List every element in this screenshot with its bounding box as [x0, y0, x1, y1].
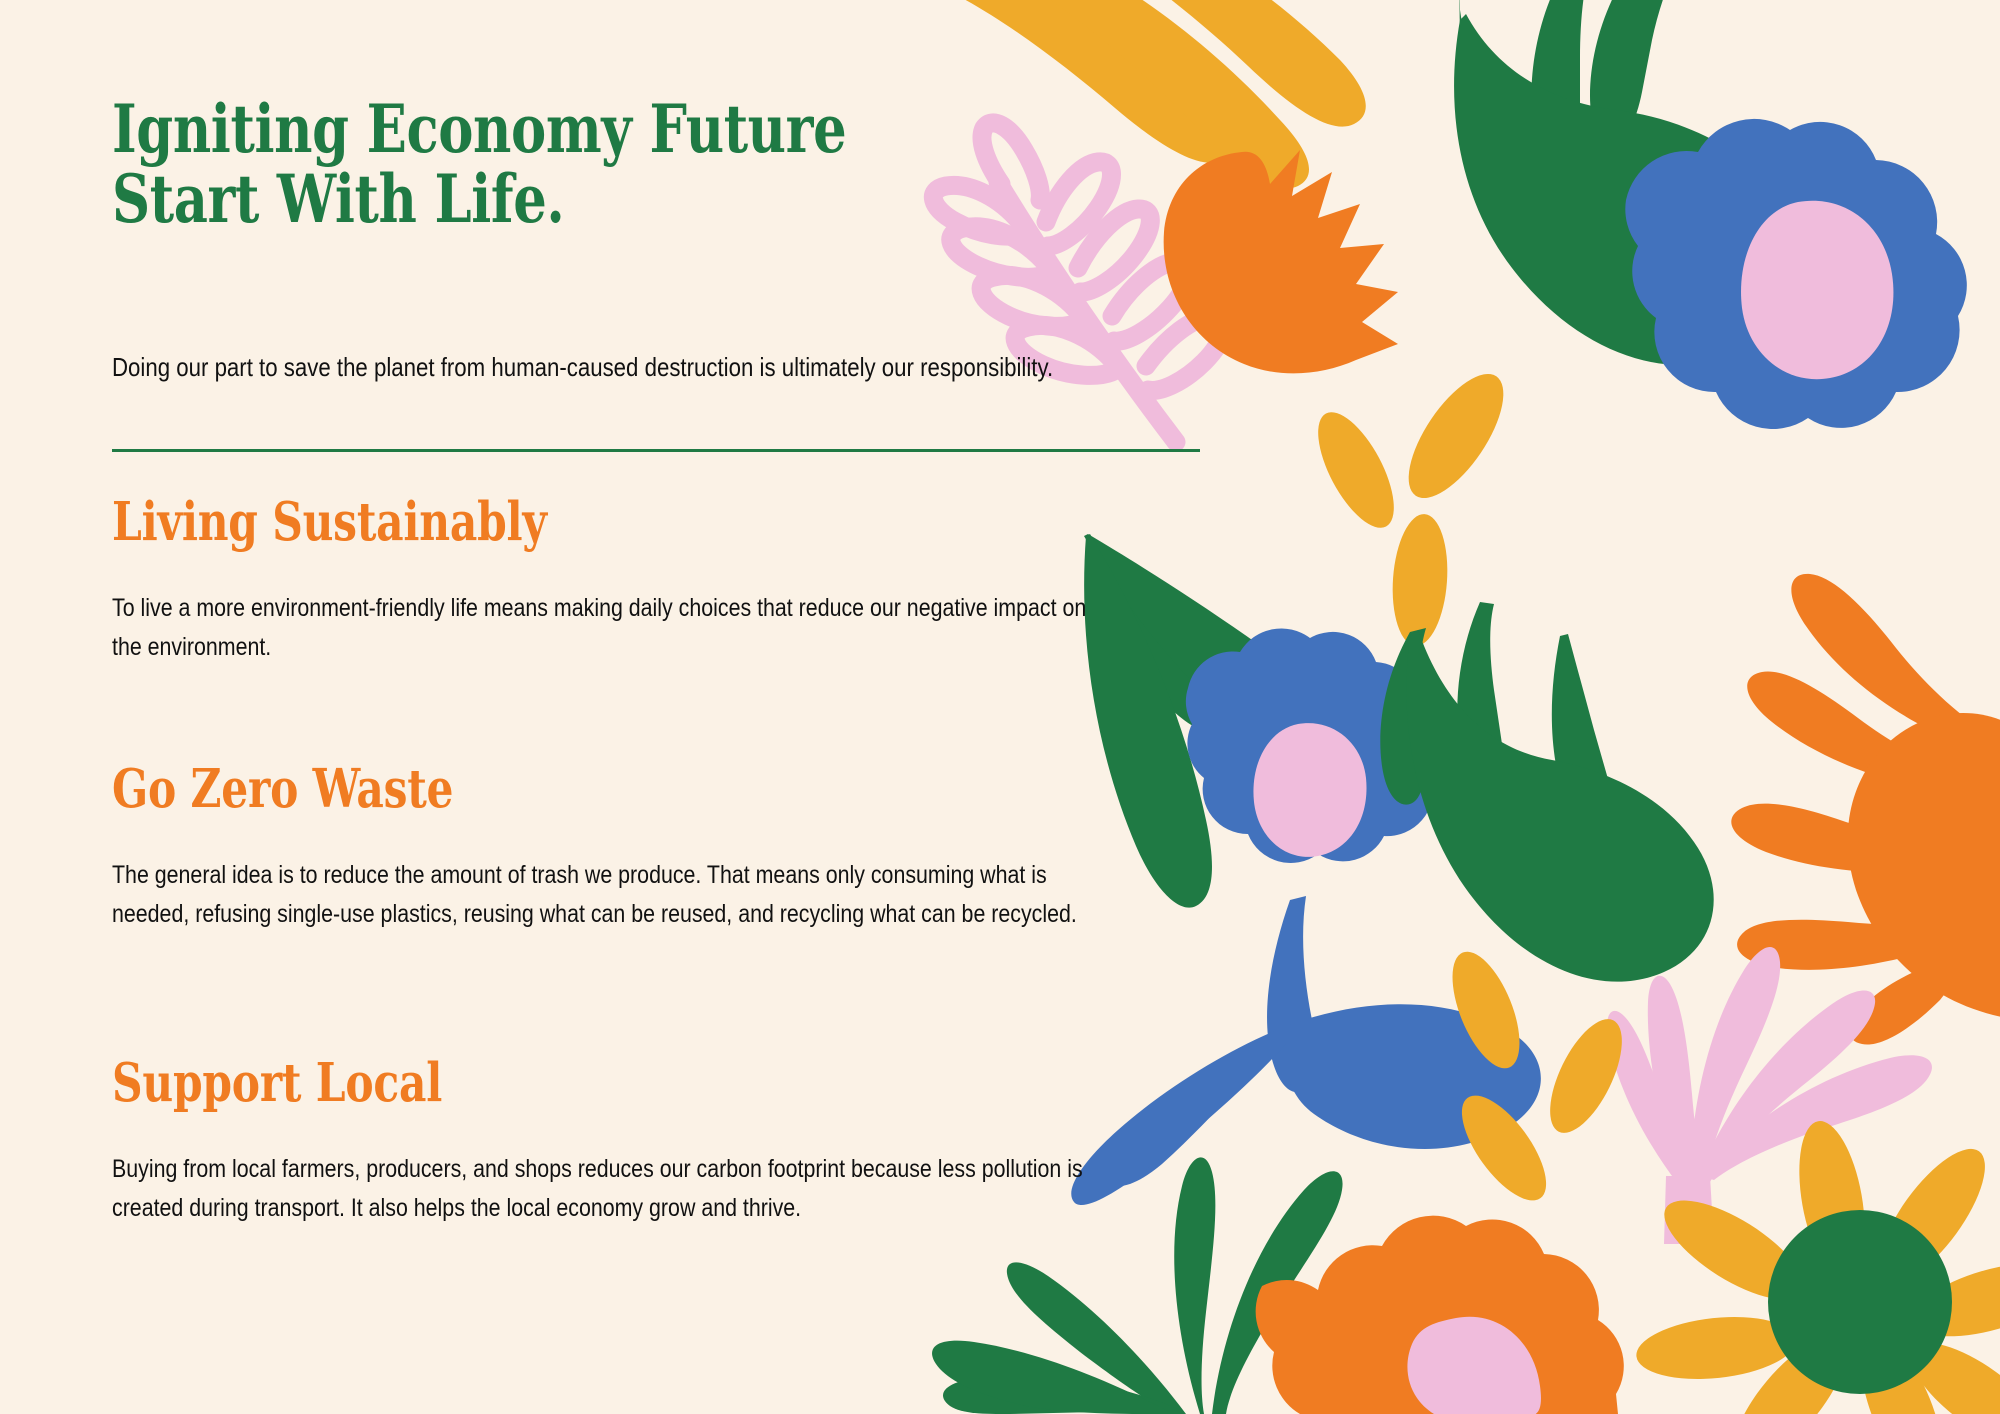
section-divider [112, 449, 1200, 452]
section-title: Go Zero Waste [112, 763, 1040, 816]
pink-flower-center-top-icon [1741, 201, 1893, 380]
blue-cloud-flower-top-icon [1625, 119, 1967, 429]
section-living-sustainably: Living Sustainably To live a more enviro… [112, 496, 1272, 667]
yellow-seed-petal-cluster-icon [1303, 360, 1521, 648]
orange-fan-palm-right-icon [1731, 574, 2000, 1045]
headline-line-2: Start With Life. [112, 160, 564, 238]
section-body: To live a more environment-friendly life… [112, 589, 1095, 667]
yellow-daisy-bottom-icon [1633, 1116, 2000, 1414]
section-title: Living Sustainably [112, 496, 1040, 549]
pink-flower-center-bottom-icon [1407, 1317, 1541, 1414]
section-body: Buying from local farmers, producers, an… [112, 1150, 1095, 1228]
section-go-zero-waste: Go Zero Waste The general idea is to red… [112, 763, 1272, 934]
section-support-local: Support Local Buying from local farmers,… [112, 1057, 1272, 1228]
yellow-seed-petal-bottom-icon [1439, 943, 1637, 1214]
section-body: The general idea is to reduce the amount… [112, 856, 1095, 934]
pink-grass-spray-icon [1607, 947, 1932, 1244]
green-daisy-center-icon [1768, 1210, 1952, 1394]
page-title: Igniting Economy FutureStart With Life. [112, 95, 920, 235]
section-title: Support Local [112, 1057, 1040, 1110]
intro-paragraph: Doing our part to save the planet from h… [112, 348, 1095, 388]
green-hand-leaf-mid-icon [1380, 602, 1713, 982]
poster-content: Igniting Economy FutureStart With Life. … [112, 0, 1202, 1414]
orange-cloud-flower-bottom-icon [1256, 1216, 1624, 1414]
green-hand-leaf-top-icon [1454, 0, 1880, 365]
poster-canvas: Igniting Economy FutureStart With Life. … [0, 0, 2000, 1414]
headline-line-1: Igniting Economy Future [112, 90, 846, 168]
